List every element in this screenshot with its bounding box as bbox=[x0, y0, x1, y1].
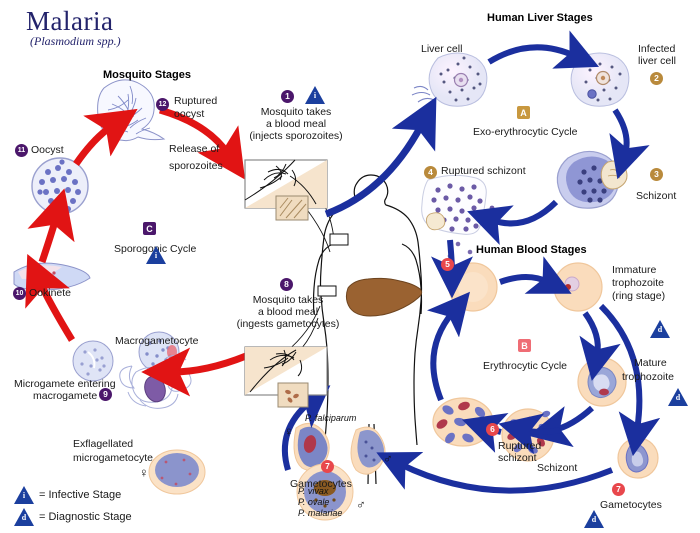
step-1-line-3: (injects sporozoites) bbox=[232, 130, 360, 142]
diagnostic-glyph-legend: d bbox=[14, 513, 34, 522]
oocyst-cell bbox=[32, 158, 88, 214]
diagnostic-stage-icon-mature: d bbox=[668, 388, 688, 406]
mature-trophozoite-line-2: trophozoite bbox=[622, 371, 674, 383]
p-vivax-female-gametocyte bbox=[149, 450, 205, 494]
step-6-badge: 6 bbox=[486, 423, 499, 436]
section-human-liver-stages: Human Liver Stages bbox=[487, 12, 593, 24]
blood-ruptured-schizont-cell bbox=[433, 398, 493, 446]
infected-liver-cell bbox=[571, 53, 629, 106]
malaria-lifecycle-diagram: Malaria (Plasmodium spp.) Mosquito Stage… bbox=[0, 0, 700, 533]
mature-trophozoite-line-1: Mature bbox=[634, 357, 667, 369]
page-title: Malaria bbox=[26, 6, 113, 37]
mature-trophozoite-cell bbox=[578, 358, 626, 406]
liver-cell bbox=[429, 53, 487, 106]
liver-cell-label: Liver cell bbox=[421, 43, 462, 55]
step-2-line-1: Infected bbox=[638, 43, 675, 55]
release-sporozoites-line-2: sporozoites bbox=[169, 160, 223, 172]
step-6-line-2: schizont bbox=[498, 452, 537, 464]
p-falciparum-label: P. falciparum bbox=[305, 413, 356, 424]
diagnostic-glyph-mature: d bbox=[668, 393, 688, 402]
step-12-line-1: Ruptured bbox=[174, 95, 217, 107]
diagnostic-glyph-ring: d bbox=[650, 325, 670, 334]
male-symbol-vivax: ♂ bbox=[356, 498, 366, 511]
step-10-label: Ookinete bbox=[29, 287, 71, 299]
step-7-right-number: 7 bbox=[612, 483, 625, 496]
immature-trophozoite-line-2: trophozoite bbox=[612, 277, 664, 289]
legend-infective-text: = Infective Stage bbox=[39, 489, 121, 501]
p-ovale-label: P. ovale bbox=[298, 497, 329, 508]
step-12-line-2: oocyst bbox=[174, 108, 204, 120]
immature-trophozoite-cell bbox=[554, 263, 602, 311]
step-7-badge: 7 bbox=[321, 460, 334, 473]
step-9-line-2: macrogamete bbox=[33, 390, 97, 402]
gametocytes-right-label: Gametocytes bbox=[600, 499, 662, 511]
exflagellated-line-2: microgametocyte bbox=[73, 452, 153, 464]
step-3-badge: 3 bbox=[650, 168, 663, 181]
infective-stage-icon-step1: i bbox=[305, 86, 325, 104]
cycle-b-label: Erythrocytic Cycle bbox=[483, 360, 567, 372]
step-10-badge: 10 bbox=[13, 287, 26, 300]
male-symbol-falciparum: ♂ bbox=[383, 452, 393, 465]
step-9-badge: 9 bbox=[99, 388, 112, 401]
step-11-label: Oocyst bbox=[31, 144, 64, 156]
step-1-line-1: Mosquito takes bbox=[235, 106, 357, 118]
step-2-number: 2 bbox=[650, 72, 663, 85]
step-11-badge: 11 bbox=[15, 144, 28, 157]
release-sporozoites-line-1: Release of bbox=[169, 143, 219, 155]
p-vivax-label: P. vivax bbox=[298, 486, 328, 497]
step-2-line-2: liver cell bbox=[638, 55, 676, 67]
step-7-right-badge: 7 bbox=[612, 483, 625, 496]
infective-glyph-legend: i bbox=[14, 491, 34, 500]
p-falciparum-male-gametocyte bbox=[351, 427, 385, 474]
step-4-badge: 4 bbox=[424, 166, 437, 179]
step-7-number: 7 bbox=[321, 460, 334, 473]
diagnostic-stage-icon-ring: d bbox=[650, 320, 670, 338]
cycle-a-marker: A bbox=[517, 106, 530, 119]
infective-glyph-sporozoites: i bbox=[146, 251, 166, 260]
step-12-number: 12 bbox=[156, 98, 169, 111]
step-12-badge: 12 bbox=[156, 98, 169, 111]
step-4-label: Ruptured schizont bbox=[441, 165, 526, 177]
step-1-badge: 1 bbox=[281, 90, 294, 103]
step-8-badge: 8 bbox=[280, 278, 293, 291]
macrogametocyte-label: Macrogametocyte bbox=[115, 335, 198, 347]
immature-trophozoite-line-3: (ring stage) bbox=[612, 290, 665, 302]
diagnostic-stage-icon-schizont: d bbox=[584, 510, 604, 528]
gametocyte-right-cell bbox=[618, 438, 658, 478]
step-10-number: 10 bbox=[13, 287, 26, 300]
step-8-line-1: Mosquito takes bbox=[229, 294, 347, 306]
step-1-line-2: a blood meal bbox=[235, 118, 357, 130]
erythrocyte-cell bbox=[449, 263, 497, 311]
step-8-number: 8 bbox=[280, 278, 293, 291]
cycle-a-label: Exo-erythrocytic Cycle bbox=[473, 126, 577, 138]
legend: i = Infective Stage d = Diagnostic Stage bbox=[14, 486, 132, 530]
legend-infective-row: i = Infective Stage bbox=[14, 486, 132, 504]
ookinete-cell bbox=[14, 263, 90, 290]
step-11-number: 11 bbox=[15, 144, 28, 157]
immature-trophozoite-line-1: Immature bbox=[612, 264, 656, 276]
step-1-number: 1 bbox=[281, 90, 294, 103]
female-symbol-falciparum: ♀ bbox=[284, 425, 294, 438]
microgamete-entering-macrogamete-cell bbox=[73, 341, 113, 381]
p-malariae-label: P. malariae bbox=[298, 508, 342, 519]
cycle-c-marker: C bbox=[143, 222, 156, 235]
legend-diagnostic-text: = Diagnostic Stage bbox=[39, 511, 132, 523]
blood-schizont-label: Schizont bbox=[537, 462, 577, 474]
cycle-b-marker: B bbox=[518, 339, 531, 352]
step-3-number: 3 bbox=[650, 168, 663, 181]
exflagellated-line-1: Exflagellated bbox=[73, 438, 133, 450]
infective-glyph-step1: i bbox=[305, 91, 325, 100]
infective-stage-icon-legend: i bbox=[14, 486, 34, 504]
step-3-label: Schizont bbox=[636, 190, 676, 202]
liver-schizont-cell bbox=[557, 151, 627, 208]
diagnostic-glyph-schizont: d bbox=[584, 515, 604, 524]
step-5-number: 5 bbox=[441, 258, 454, 271]
cycle-c-letter: C bbox=[143, 222, 156, 235]
step-5-badge: 5 bbox=[441, 258, 454, 271]
step-8-line-2: a blood meal bbox=[229, 306, 347, 318]
cycle-b-letter: B bbox=[518, 339, 531, 352]
mosquito-bite-panel-1-art bbox=[245, 160, 327, 220]
legend-diagnostic-row: d = Diagnostic Stage bbox=[14, 508, 132, 526]
step-2-badge: 2 bbox=[650, 72, 663, 85]
step-8-line-3: (ingests gametocytes) bbox=[222, 318, 354, 330]
step-6-line-1: Ruptured bbox=[498, 440, 541, 452]
step-4-number: 4 bbox=[424, 166, 437, 179]
section-human-blood-stages: Human Blood Stages bbox=[476, 244, 587, 256]
diagnostic-stage-icon-legend: d bbox=[14, 508, 34, 526]
infective-stage-icon-sporozoites: i bbox=[146, 246, 166, 264]
section-mosquito-stages: Mosquito Stages bbox=[103, 69, 191, 81]
liver-organ-icon bbox=[346, 278, 421, 316]
cycle-a-letter: A bbox=[517, 106, 530, 119]
mosquito-bite-panel-8-art bbox=[245, 347, 327, 407]
step-9-number: 9 bbox=[99, 388, 112, 401]
step-6-number: 6 bbox=[486, 423, 499, 436]
female-symbol-vivax: ♀ bbox=[139, 466, 149, 479]
page-subtitle: (Plasmodium spp.) bbox=[30, 34, 121, 49]
